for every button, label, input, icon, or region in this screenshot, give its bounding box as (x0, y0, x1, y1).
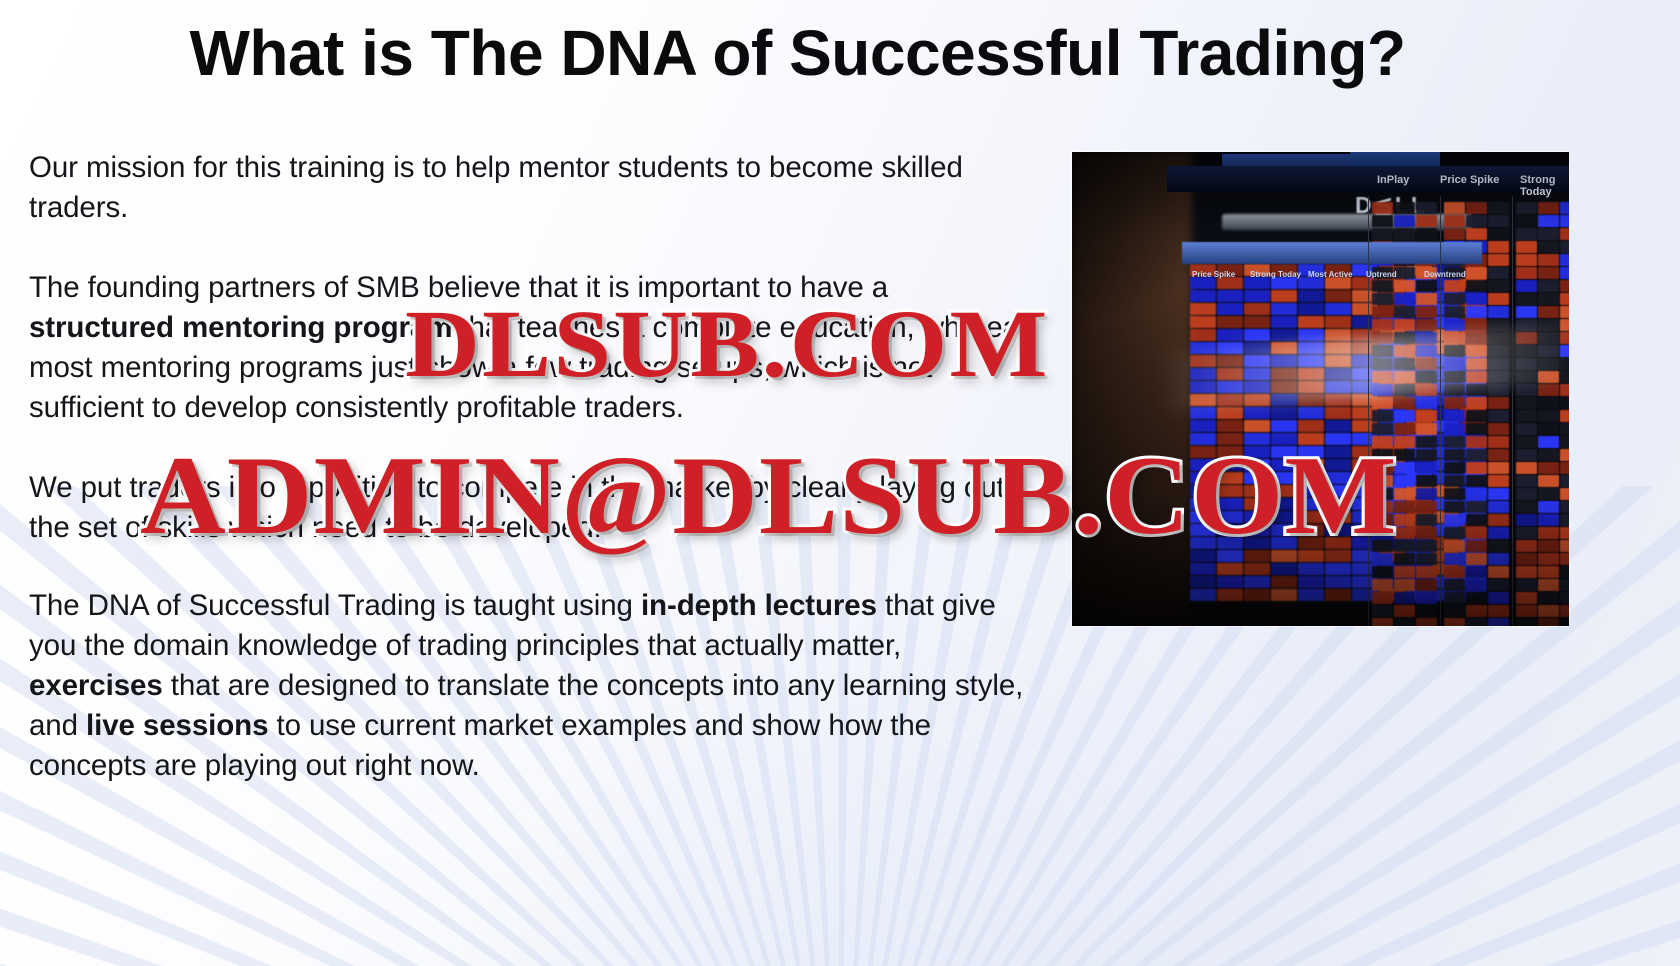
photo-panel-tab: Most Active (1308, 270, 1353, 279)
photo-ticker-cell (1394, 293, 1415, 305)
photo-ticker-cell (1488, 228, 1509, 240)
photo-ticker-cell (1298, 316, 1324, 328)
photo-ticker-cell (1394, 267, 1415, 279)
photo-ticker-cell (1516, 293, 1537, 305)
photo-ticker-cell (1217, 563, 1243, 575)
photo-ticker-cell (1394, 592, 1415, 604)
photo-ticker-cell (1372, 293, 1393, 305)
photo-ticker-cell (1560, 254, 1569, 266)
photo-ticker-cell (1416, 436, 1437, 448)
photo-ticker-cell (1538, 618, 1559, 626)
photo-ticker-cell (1394, 397, 1415, 409)
photo-ticker-cell (1516, 592, 1537, 604)
photo-column-header-inplay: InPlay (1377, 174, 1409, 194)
paragraph-how-taught-run-5: live sessions (86, 709, 268, 742)
photo-panel-bar (1182, 242, 1482, 264)
photo-ticker-cell (1516, 462, 1537, 474)
photo-ticker-cell (1516, 436, 1537, 448)
paragraph-how-taught-run-0: The DNA of Successful Trading is taught … (29, 589, 641, 622)
photo-ticker-cell (1444, 566, 1465, 578)
photo-ticker-cell (1416, 306, 1437, 318)
photo-ticker-cell (1372, 592, 1393, 604)
photo-ticker-cell (1444, 579, 1465, 591)
photo-ticker-cell (1372, 618, 1393, 626)
photo-ticker-cell (1488, 579, 1509, 591)
photo-ticker-cell (1466, 267, 1487, 279)
photo-ticker-cell (1325, 420, 1351, 432)
photo-ticker-cell (1466, 579, 1487, 591)
photo-column-header-strong-today: Strong Today (1520, 174, 1569, 194)
photo-ticker-cell (1298, 576, 1324, 588)
photo-ticker-cell (1271, 329, 1297, 341)
photo-ticker-cell (1372, 215, 1393, 227)
photo-ticker-cell (1217, 407, 1243, 419)
photo-ticker-cell (1538, 566, 1559, 578)
photo-ticker-cell (1190, 290, 1216, 302)
photo-ticker-cell (1516, 618, 1537, 626)
photo-ticker-cell (1466, 228, 1487, 240)
photo-ticker-cell (1538, 215, 1559, 227)
photo-ticker-cell (1325, 576, 1351, 588)
photo-ticker-cell (1560, 527, 1569, 539)
photo-ticker-cell (1416, 293, 1437, 305)
photo-ticker-grid (1516, 202, 1569, 626)
photo-ticker-cell (1372, 579, 1393, 591)
photo-ticker-cell (1560, 397, 1569, 409)
photo-ticker-cell (1190, 420, 1216, 432)
photo-ticker-cell (1560, 436, 1569, 448)
photo-ticker-cell (1444, 553, 1465, 565)
photo-ticker-cell (1516, 410, 1537, 422)
photo-ticker-cell (1516, 514, 1537, 526)
photo-ticker-cell (1394, 605, 1415, 617)
photo-ticker-cell (1466, 605, 1487, 617)
photo-ticker-cell (1190, 576, 1216, 588)
photo-ticker-cell (1560, 410, 1569, 422)
photo-ticker-cell (1488, 267, 1509, 279)
photo-ticker-cell (1516, 540, 1537, 552)
photo-ticker-cell (1444, 202, 1465, 214)
photo-panel-tab: Downtrend (1424, 270, 1466, 279)
photo-ticker-cell (1488, 397, 1509, 409)
photo-ticker-cell (1560, 553, 1569, 565)
photo-ticker-cell (1244, 329, 1270, 341)
photo-ticker-cell (1560, 592, 1569, 604)
photo-ticker-cell (1416, 449, 1437, 461)
photo-ticker-cell (1190, 563, 1216, 575)
photo-ticker-cell (1516, 267, 1537, 279)
photo-ticker-cell (1488, 306, 1509, 318)
photo-ticker-cell (1217, 589, 1243, 601)
photo-ticker-cell (1416, 488, 1437, 500)
photo-ticker-cell (1271, 420, 1297, 432)
photo-ticker-cell (1466, 488, 1487, 500)
photo-ticker-cell (1538, 306, 1559, 318)
photo-ticker-cell (1560, 618, 1569, 626)
photo-ticker-cell (1516, 579, 1537, 591)
photo-ticker-cell (1444, 514, 1465, 526)
photo-ticker-cell (1538, 280, 1559, 292)
photo-ticker-cell (1516, 397, 1537, 409)
photo-ticker-cell (1466, 501, 1487, 513)
photo-ticker-cell (1560, 579, 1569, 591)
photo-ticker-cell (1488, 215, 1509, 227)
photo-ticker-cell (1488, 553, 1509, 565)
photo-ticker-cell (1244, 407, 1270, 419)
photo-ticker-cell (1444, 527, 1465, 539)
photo-ticker-cell (1538, 553, 1559, 565)
photo-ticker-cell (1444, 605, 1465, 617)
photo-ticker-cell (1488, 423, 1509, 435)
photo-ticker-cell (1516, 501, 1537, 513)
photo-ticker-cell (1538, 423, 1559, 435)
watermark-email: ADMIN@DLSUB.COM (140, 432, 1397, 561)
photo-ticker-cell (1372, 397, 1393, 409)
photo-ticker-cell (1416, 592, 1437, 604)
page-title: What is The DNA of Successful Trading? (0, 16, 1595, 90)
photo-ticker-cell (1516, 527, 1537, 539)
photo-ticker-cell (1466, 202, 1487, 214)
photo-ticker-cell (1538, 540, 1559, 552)
photo-ticker-cell (1372, 202, 1393, 214)
photo-ticker-cell (1298, 329, 1324, 341)
photo-ticker-cell (1488, 462, 1509, 474)
photo-ticker-cell (1416, 202, 1437, 214)
photo-ticker-cell (1538, 254, 1559, 266)
photo-ticker-cell (1444, 280, 1465, 292)
photo-ticker-cell (1516, 228, 1537, 240)
photo-ticker-cell (1538, 241, 1559, 253)
photo-ticker-cell (1560, 449, 1569, 461)
photo-ticker-cell (1488, 202, 1509, 214)
photo-ticker-cell (1298, 589, 1324, 601)
photo-ticker-cell (1488, 254, 1509, 266)
photo-ticker-cell (1488, 436, 1509, 448)
photo-ticker-cell (1488, 501, 1509, 513)
photo-ticker-cell (1444, 228, 1465, 240)
photo-ticker-cell (1560, 540, 1569, 552)
photo-ticker-cell (1538, 449, 1559, 461)
photo-ticker-cell (1444, 215, 1465, 227)
photo-ticker-cell (1394, 306, 1415, 318)
paragraph-structured-program-run-1: structured mentoring program (29, 311, 452, 344)
photo-ticker-cell (1466, 566, 1487, 578)
photo-ticker-cell (1560, 605, 1569, 617)
photo-ticker-cell (1394, 618, 1415, 626)
photo-ticker-cell (1271, 303, 1297, 315)
photo-ticker-cell (1271, 290, 1297, 302)
photo-ticker-cell (1416, 462, 1437, 474)
photo-ticker-cell (1444, 488, 1465, 500)
photo-ticker-cell (1416, 215, 1437, 227)
photo-ticker-cell (1560, 384, 1569, 396)
photo-ticker-cell (1466, 423, 1487, 435)
photo-ticker-cell (1298, 563, 1324, 575)
photo-ticker-cell (1372, 306, 1393, 318)
photo-ticker-cell (1372, 319, 1393, 331)
photo-ticker-cell (1444, 319, 1465, 331)
photo-ticker-cell (1538, 501, 1559, 513)
photo-ticker-cell (1466, 592, 1487, 604)
photo-ticker-cell (1325, 290, 1351, 302)
photo-ticker-cell (1466, 514, 1487, 526)
photo-ticker-cell (1394, 202, 1415, 214)
photo-ticker-cell (1444, 592, 1465, 604)
paragraph-mission-run-0: Our mission for this training is to help… (29, 151, 963, 224)
photo-ticker-cell (1190, 316, 1216, 328)
photo-ticker-cell (1444, 475, 1465, 487)
photo-ticker-cell (1325, 303, 1351, 315)
photo-ticker-cell (1538, 514, 1559, 526)
photo-ticker-cell (1217, 420, 1243, 432)
photo-ticker-cell (1394, 215, 1415, 227)
photo-ticker-cell (1271, 563, 1297, 575)
photo-ticker-cell (1444, 293, 1465, 305)
photo-ticker-cell (1466, 553, 1487, 565)
photo-ticker-cell (1444, 306, 1465, 318)
photo-ticker-cell (1538, 410, 1559, 422)
photo-ticker-cell (1217, 329, 1243, 341)
photo-ticker-cell (1372, 280, 1393, 292)
photo-ticker-cell (1538, 228, 1559, 240)
photo-ticker-cell (1416, 566, 1437, 578)
photo-ticker-cell (1488, 293, 1509, 305)
photo-ticker-cell (1416, 553, 1437, 565)
photo-ticker-cell (1488, 592, 1509, 604)
photo-ticker-cell (1516, 475, 1537, 487)
photo-ticker-cell (1217, 303, 1243, 315)
photo-ticker-cell (1560, 475, 1569, 487)
photo-ticker-cell (1488, 527, 1509, 539)
paragraph-how-taught-run-1: in-depth lectures (641, 589, 877, 622)
photo-ticker-cell (1298, 303, 1324, 315)
photo-ticker-cell (1416, 618, 1437, 626)
photo-ticker-cell (1560, 306, 1569, 318)
photo-ticker-cell (1416, 319, 1437, 331)
photo-ticker-cell (1488, 618, 1509, 626)
photo-ticker-cell (1190, 303, 1216, 315)
photo-ticker-cell (1416, 605, 1437, 617)
paragraph-how-taught: The DNA of Successful Trading is taught … (29, 586, 1039, 786)
photo-ticker-cell (1488, 241, 1509, 253)
photo-ticker-cell (1538, 293, 1559, 305)
photo-ticker-cell (1538, 488, 1559, 500)
paragraph-how-taught-run-3: exercises (29, 669, 163, 702)
photo-ticker-cell (1298, 407, 1324, 419)
photo-ticker-cell (1538, 579, 1559, 591)
photo-ticker-cell (1444, 397, 1465, 409)
photo-ticker-cell (1466, 475, 1487, 487)
photo-ticker-cell (1516, 215, 1537, 227)
photo-ticker-grid (1444, 202, 1509, 626)
photo-ticker-cell (1416, 397, 1437, 409)
photo-ticker-cell (1444, 423, 1465, 435)
photo-ticker-cell (1516, 254, 1537, 266)
photo-ticker-cell (1416, 540, 1437, 552)
photo-column-separator (1368, 196, 1369, 626)
photo-ticker-cell (1190, 589, 1216, 601)
photo-ticker-cell (1466, 410, 1487, 422)
photo-column-header-price-spike: Price Spike (1440, 174, 1499, 194)
photo-panel-tab: Price Spike (1192, 270, 1235, 279)
photo-ticker-cell (1394, 579, 1415, 591)
photo-ticker-cell (1516, 241, 1537, 253)
photo-ticker-cell (1416, 410, 1437, 422)
photo-ticker-cell (1516, 306, 1537, 318)
photo-panel-tab: Uptrend (1366, 270, 1397, 279)
photo-ticker-cell (1271, 407, 1297, 419)
photo-ticker-cell (1516, 488, 1537, 500)
photo-ticker-cell (1466, 462, 1487, 474)
photo-ticker-cell (1244, 589, 1270, 601)
photo-ticker-cell (1466, 397, 1487, 409)
photo-ticker-cell (1372, 605, 1393, 617)
photo-ticker-cell (1466, 306, 1487, 318)
photo-ticker-cell (1560, 501, 1569, 513)
photo-ticker-cell (1488, 605, 1509, 617)
photo-ticker-cell (1538, 605, 1559, 617)
photo-ticker-cell (1444, 449, 1465, 461)
photo-ticker-cell (1217, 316, 1243, 328)
photo-ticker-cell (1416, 423, 1437, 435)
photo-ticker-cell (1298, 290, 1324, 302)
photo-ticker-cell (1466, 449, 1487, 461)
photo-ticker-cell (1538, 436, 1559, 448)
photo-ticker-cell (1466, 540, 1487, 552)
photo-ticker-cell (1516, 566, 1537, 578)
photo-ticker-cell (1394, 228, 1415, 240)
photo-header-bar (1167, 166, 1569, 192)
photo-ticker-cell (1560, 488, 1569, 500)
photo-ticker-cell (1488, 410, 1509, 422)
photo-ticker-cell (1271, 576, 1297, 588)
photo-ticker-cell (1516, 449, 1537, 461)
photo-ticker-cell (1560, 202, 1569, 214)
photo-ticker-cell (1325, 563, 1351, 575)
photo-ticker-cell (1372, 410, 1393, 422)
photo-ticker-cell (1466, 293, 1487, 305)
photo-ticker-cell (1444, 618, 1465, 626)
photo-ticker-cell (1560, 293, 1569, 305)
photo-ticker-cell (1217, 290, 1243, 302)
photo-ticker-cell (1516, 202, 1537, 214)
photo-ticker-cell (1444, 462, 1465, 474)
photo-ticker-cell (1244, 316, 1270, 328)
photo-ticker-cell (1394, 410, 1415, 422)
photo-ticker-cell (1560, 267, 1569, 279)
photo-ticker-cell (1488, 540, 1509, 552)
photo-ticker-cell (1488, 514, 1509, 526)
photo-ticker-cell (1271, 589, 1297, 601)
photo-ticker-cell (1416, 228, 1437, 240)
photo-ticker-cell (1244, 563, 1270, 575)
photo-ticker-cell (1538, 592, 1559, 604)
photo-ticker-cell (1394, 319, 1415, 331)
photo-ticker-cell (1488, 488, 1509, 500)
photo-ticker-cell (1244, 290, 1270, 302)
photo-ticker-cell (1444, 410, 1465, 422)
photo-panel-tab: Strong Today (1250, 270, 1301, 279)
photo-ticker-cell (1444, 436, 1465, 448)
photo-ticker-cell (1560, 280, 1569, 292)
photo-ticker-cell (1488, 566, 1509, 578)
photo-ticker-cell (1416, 501, 1437, 513)
photo-ticker-cell (1516, 423, 1537, 435)
photo-ticker-cell (1538, 397, 1559, 409)
photo-ticker-cell (1538, 267, 1559, 279)
photo-ticker-cell (1372, 228, 1393, 240)
paragraph-mission: Our mission for this training is to help… (29, 148, 1039, 228)
photo-ticker-cell (1416, 579, 1437, 591)
photo-ticker-cell (1416, 527, 1437, 539)
photo-ticker-cell (1217, 576, 1243, 588)
photo-ticker-cell (1271, 316, 1297, 328)
photo-ticker-cell (1538, 527, 1559, 539)
photo-ticker-cell (1298, 420, 1324, 432)
photo-ticker-cell (1416, 514, 1437, 526)
photo-ticker-cell (1394, 280, 1415, 292)
photo-ticker-cell (1466, 215, 1487, 227)
photo-ticker-cell (1560, 514, 1569, 526)
photo-ticker-cell (1516, 280, 1537, 292)
photo-ticker-cell (1190, 329, 1216, 341)
photo-ticker-cell (1560, 462, 1569, 474)
photo-ticker-cell (1488, 449, 1509, 461)
photo-ticker-cell (1416, 475, 1437, 487)
photo-ticker-cell (1516, 553, 1537, 565)
photo-ticker-cell (1488, 475, 1509, 487)
photo-ticker-cell (1560, 423, 1569, 435)
photo-ticker-cell (1538, 475, 1559, 487)
photo-ticker-cell (1488, 280, 1509, 292)
photo-ticker-cell (1444, 540, 1465, 552)
photo-ticker-cell (1325, 407, 1351, 419)
photo-column-separator (1512, 196, 1513, 626)
photo-ticker-cell (1466, 618, 1487, 626)
photo-ticker-cell (1244, 303, 1270, 315)
photo-ticker-cell (1466, 527, 1487, 539)
photo-ticker-cell (1560, 241, 1569, 253)
photo-ticker-cell (1538, 202, 1559, 214)
photo-ticker-cell (1325, 316, 1351, 328)
photo-ticker-cell (1372, 566, 1393, 578)
photo-ticker-cell (1560, 228, 1569, 240)
photo-ticker-cell (1560, 566, 1569, 578)
photo-ticker-cell (1244, 576, 1270, 588)
photo-ticker-cell (1325, 589, 1351, 601)
photo-ticker-cell (1560, 215, 1569, 227)
photo-column-separator (1440, 196, 1441, 626)
photo-ticker-cell (1394, 566, 1415, 578)
photo-ticker-cell (1516, 605, 1537, 617)
photo-ticker-cell (1244, 420, 1270, 432)
photo-ticker-cell (1538, 462, 1559, 474)
photo-ticker-grid (1372, 202, 1437, 626)
photo-ticker-cell (1466, 280, 1487, 292)
photo-ticker-cell (1444, 501, 1465, 513)
photo-ticker-cell (1538, 384, 1559, 396)
photo-ticker-cell (1466, 436, 1487, 448)
photo-ticker-cell (1416, 280, 1437, 292)
watermark-site: DLSUB.COM (405, 288, 1049, 399)
